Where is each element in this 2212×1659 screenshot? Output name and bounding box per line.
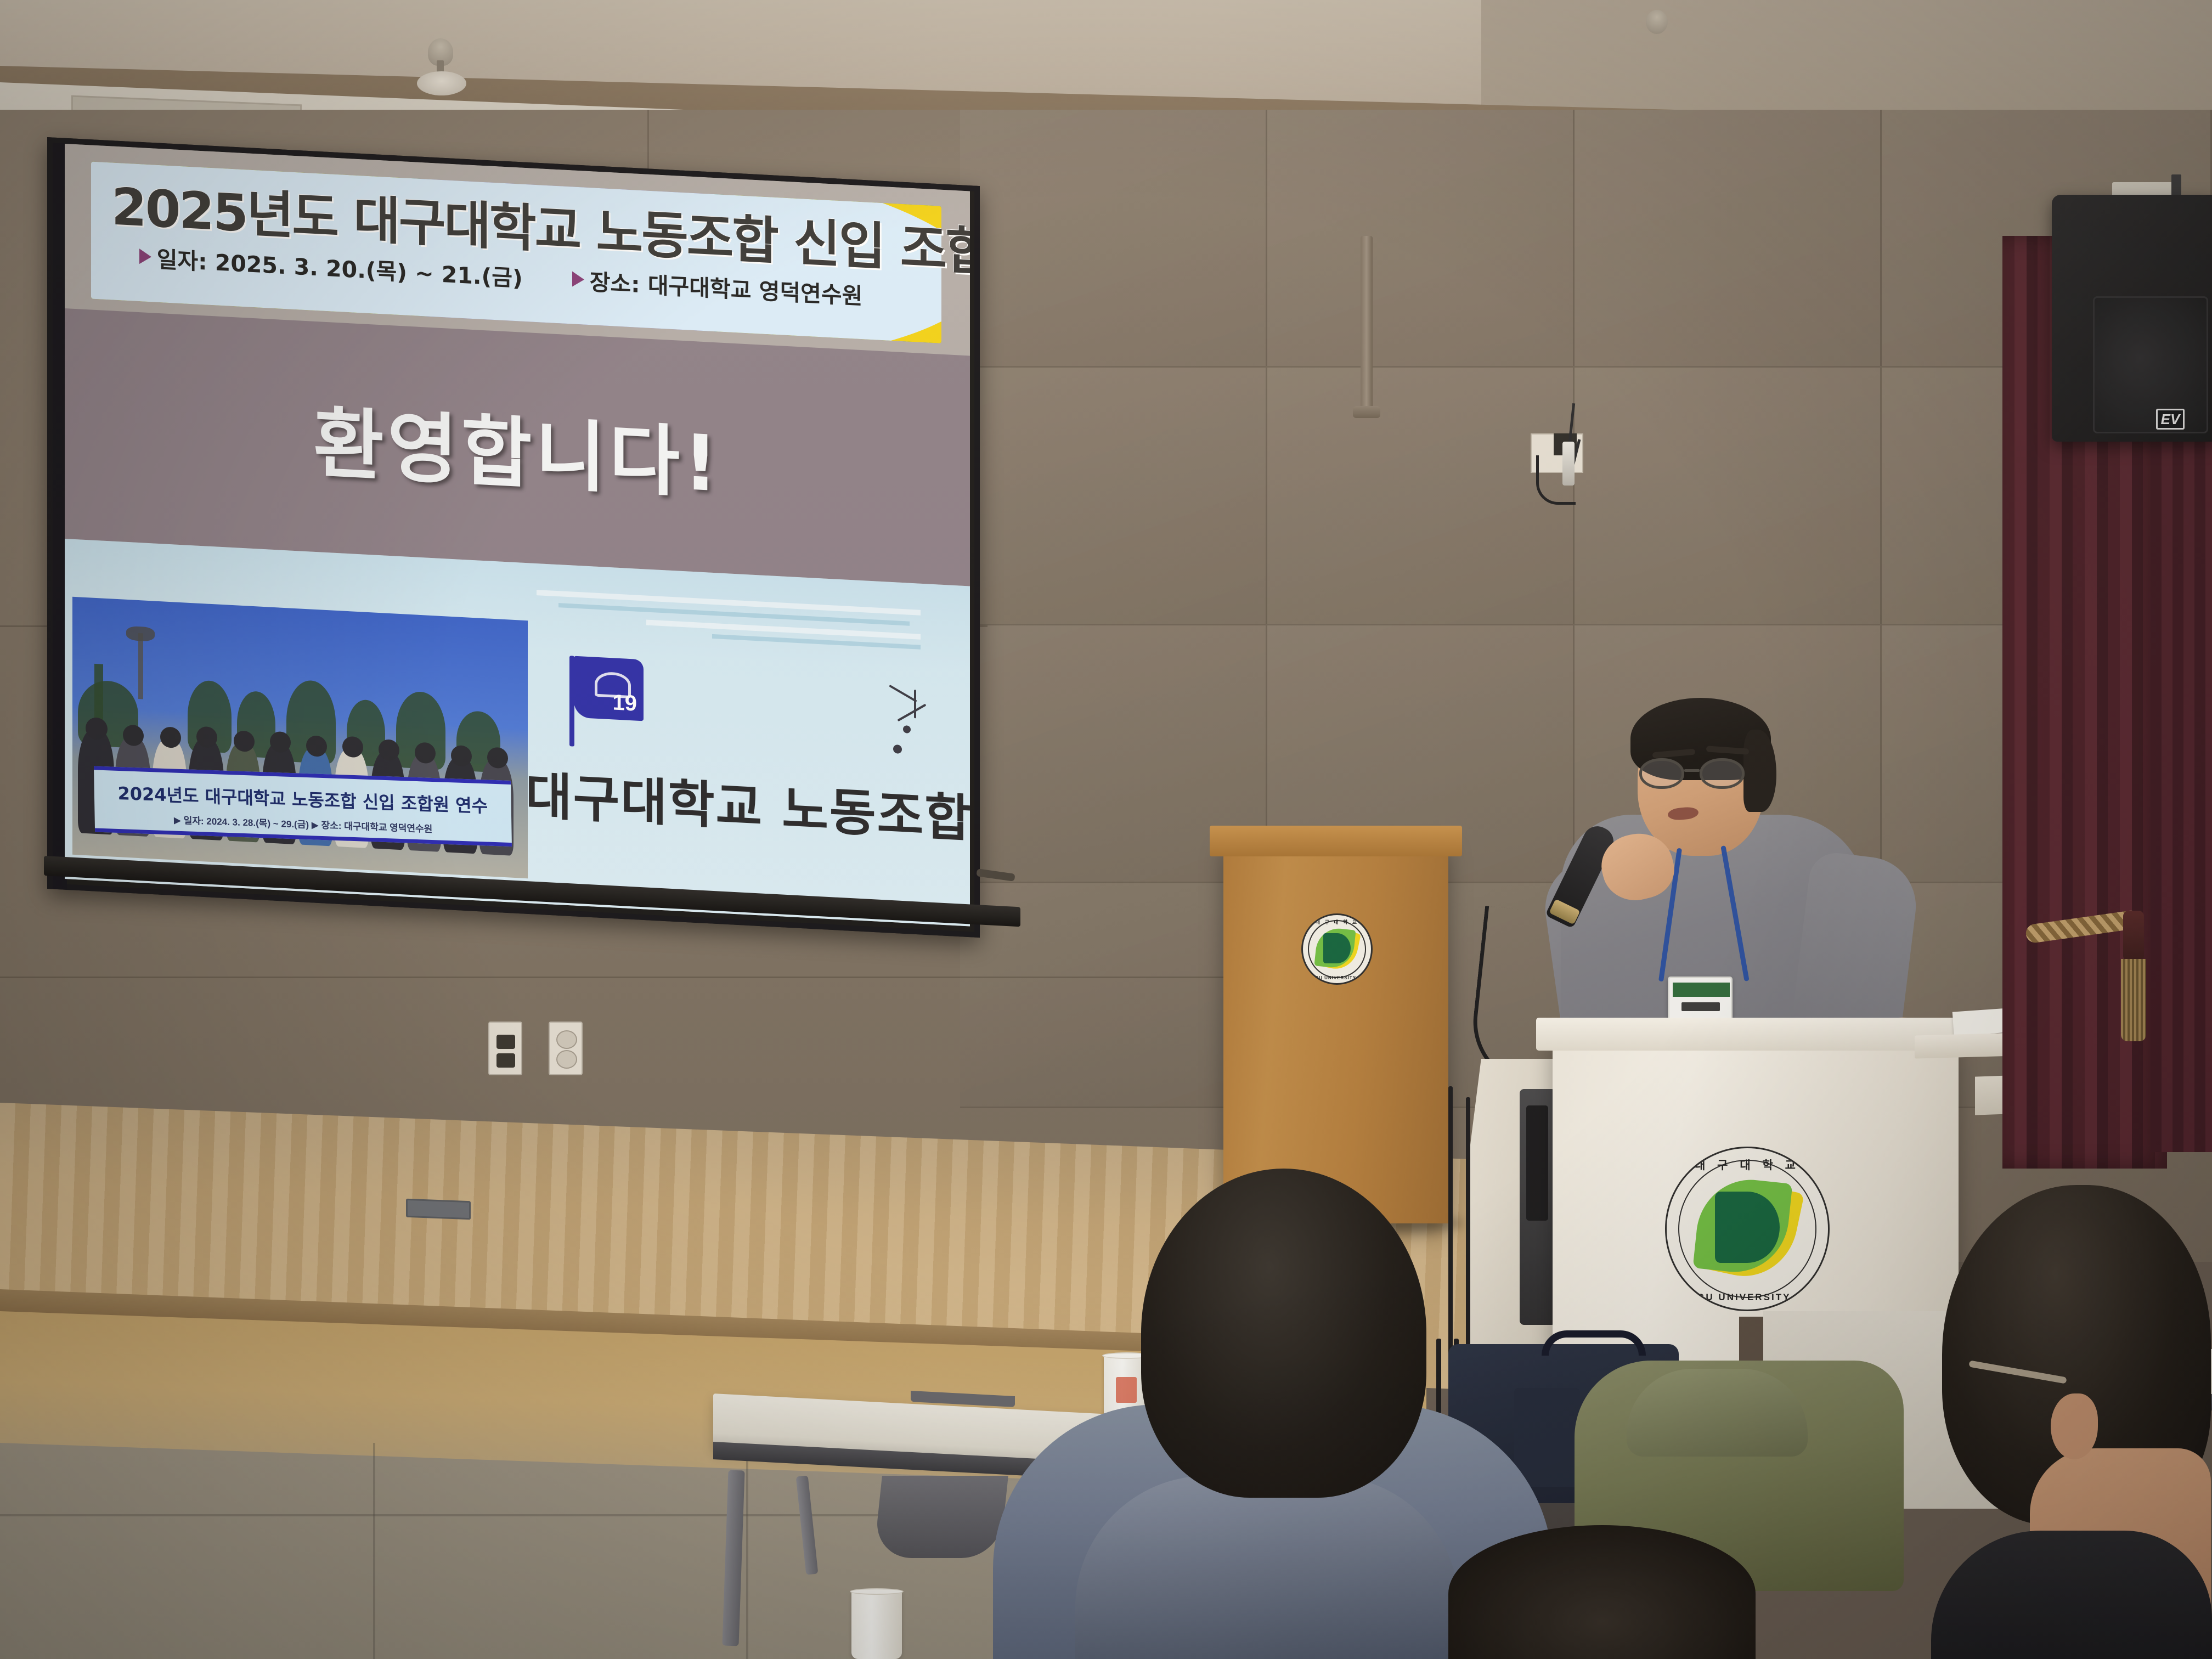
audience-head-center: [1141, 1169, 1426, 1498]
ceiling-light-icon: [417, 71, 466, 95]
coat-collar: [1627, 1369, 1808, 1457]
university-emblem-podium: 대 구 대 학 교 DAEGU UNIVERSITY 1956: [1301, 913, 1373, 985]
slide-welcome-band: 환영합니다!: [65, 308, 970, 586]
flag-number: 19: [613, 690, 637, 716]
emblem-top-text: 대 구 대 학 교: [1303, 918, 1371, 926]
wall-jack-plate[interactable]: [488, 1022, 522, 1075]
wall-power-outlet[interactable]: [549, 1022, 583, 1075]
eyeglasses-icon: [1639, 758, 1757, 791]
bag-front-pocket: [1514, 1388, 1580, 1487]
paper-cup[interactable]: [851, 1591, 902, 1659]
curtain-tassel: [2121, 911, 2146, 1042]
loudspeaker-grille: [2093, 296, 2208, 433]
badge-name-line: [1681, 1002, 1720, 1011]
group-photo: 2024년도 대구대학교 노동조합 신입 조합원 연수 ▶ 일자: 2024. …: [72, 597, 528, 878]
bag-handle[interactable]: [1542, 1330, 1646, 1356]
emblem-bottom-text: DAEGU UNIVERSITY 1956: [1303, 975, 1371, 980]
sprinkler-head-icon: [1646, 10, 1668, 34]
antenna-cable: [1536, 455, 1576, 505]
sprinkler-head-icon: [428, 38, 453, 66]
lectern-desktop: [1536, 1018, 1970, 1051]
floor-service-box[interactable]: [406, 1199, 471, 1220]
name-badge: [1668, 977, 1733, 1024]
speaker-mount-arm: [2171, 174, 2181, 196]
audience-head-front: [1448, 1525, 1756, 1659]
chair-back-rest: [873, 1476, 1008, 1558]
podium-top: [1210, 826, 1462, 856]
wall-conduit-pipe: [1361, 236, 1373, 417]
photo-scene: 2025년도 대구대학교 노동조합 신입 조합원 연수 일자: 2025. 3.…: [0, 0, 2212, 1659]
badge-color-band: [1673, 983, 1730, 997]
audience-ear-right: [2051, 1393, 2098, 1459]
wall-conduit-joint: [1353, 406, 1380, 418]
emblem-top-text: 대 구 대 학 교: [1667, 1156, 1828, 1173]
ev-brand-logo-icon: EV: [2156, 409, 2185, 430]
presentation-slide: 2025년도 대구대학교 노동조합 신입 조합원 연수 일자: 2025. 3.…: [65, 144, 970, 926]
lectern-slot-interior: [1526, 1105, 1548, 1221]
jacket-fold: [1075, 1476, 1459, 1659]
welcome-text: 환영합니다!: [313, 381, 721, 513]
triangle-bullet-icon: [572, 271, 584, 287]
triangle-bullet-icon: [139, 249, 151, 264]
sparkle-decoration-icon: [888, 686, 953, 766]
university-emblem-lectern: 대 구 대 학 교 DAEGU UNIVERSITY 1956: [1665, 1147, 1830, 1311]
audience-body-right: [1931, 1531, 2212, 1659]
projection-screen[interactable]: 2025년도 대구대학교 노동조합 신입 조합원 연수 일자: 2025. 3.…: [65, 144, 970, 926]
wooden-podium: [1223, 839, 1448, 1223]
emblem-bottom-text: DAEGU UNIVERSITY 1956: [1667, 1292, 1828, 1303]
union-flag-icon: 19: [564, 656, 644, 729]
union-name-text: 대구대학교 노동조합: [526, 755, 959, 850]
